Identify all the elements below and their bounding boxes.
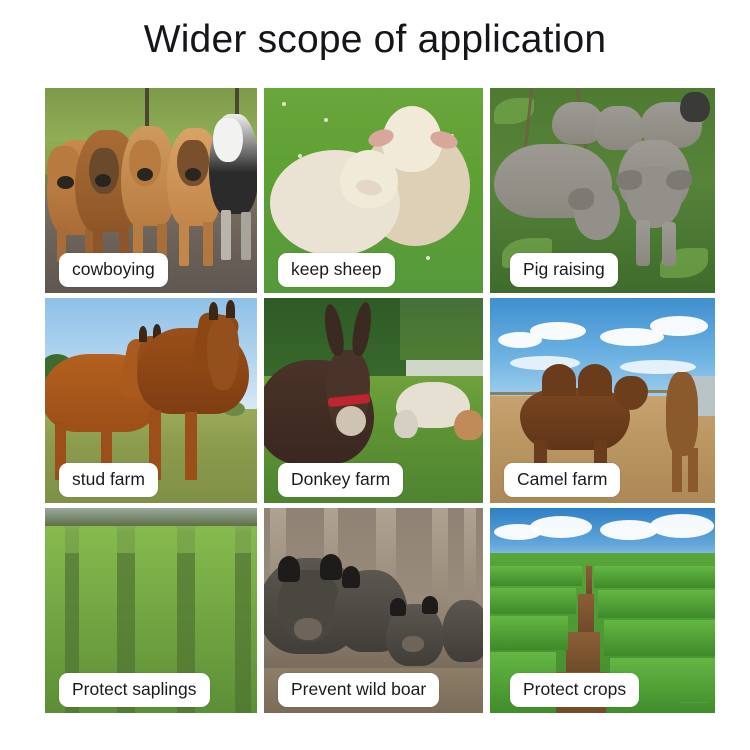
grid-cell-cowboying[interactable]: cowboying xyxy=(45,88,257,293)
pig-ear xyxy=(568,188,594,210)
pig xyxy=(680,92,710,122)
crop-row xyxy=(604,620,715,656)
wild-boar-piglet xyxy=(442,600,483,662)
cow-leg xyxy=(179,220,189,266)
boar-ear xyxy=(320,554,342,580)
soil-furrow xyxy=(566,632,600,676)
grid-cell-donkey-farm[interactable]: Donkey farm xyxy=(264,298,483,503)
boar-ear xyxy=(390,598,406,616)
boar-ear xyxy=(422,596,438,614)
crop-row xyxy=(490,566,582,586)
pig-ear xyxy=(616,170,642,190)
horse-ear xyxy=(226,300,235,318)
cow-head xyxy=(89,148,119,194)
soil-furrow xyxy=(578,594,594,634)
page-root: Wider scope of application xyxy=(0,0,750,750)
boar-ear xyxy=(278,556,300,582)
crop-row xyxy=(594,566,715,588)
cow-leg xyxy=(241,212,251,260)
cow-muzzle xyxy=(95,174,111,187)
grid-cell-prevent-wild-boar[interactable]: Prevent wild boar xyxy=(264,508,483,713)
grid-cell-stud-farm[interactable]: stud farm xyxy=(45,298,257,503)
horse-ear xyxy=(139,326,147,342)
crop-row xyxy=(598,590,715,618)
horse-head xyxy=(207,316,239,390)
crop-row xyxy=(490,616,568,650)
grid-cell-protect-crops[interactable]: ············ Protect crops xyxy=(490,508,715,713)
grid-cell-protect-saplings[interactable]: Protect saplings xyxy=(45,508,257,713)
flower xyxy=(426,256,430,260)
boar-ear xyxy=(342,566,360,588)
cell-label: Protect crops xyxy=(510,673,639,707)
camel xyxy=(666,372,698,456)
pig-ear xyxy=(666,170,692,190)
calf xyxy=(454,410,483,440)
cow-muzzle xyxy=(57,176,74,189)
camel-leg xyxy=(688,448,698,492)
pig-leg xyxy=(662,222,676,266)
cell-label: Camel farm xyxy=(504,463,620,497)
cell-label: Donkey farm xyxy=(278,463,403,497)
white-cow-head xyxy=(394,410,418,438)
cow-muzzle xyxy=(185,168,201,181)
cloud xyxy=(530,516,592,538)
soil-row xyxy=(235,553,251,713)
distant-treeline xyxy=(45,508,257,526)
horse-ear xyxy=(209,302,218,320)
cell-label: Prevent wild boar xyxy=(278,673,439,707)
camel-hump xyxy=(542,364,576,396)
cow-muzzle xyxy=(137,168,153,181)
camel-leg xyxy=(672,448,682,492)
sapling-row xyxy=(251,526,257,713)
cell-label: cowboying xyxy=(59,253,168,287)
cell-label: keep sheep xyxy=(278,253,395,287)
pig-leg xyxy=(636,220,650,266)
watermark: ············ xyxy=(681,700,709,706)
grid-cell-pig-raising[interactable]: Pig raising xyxy=(490,88,715,293)
cloud xyxy=(650,316,708,336)
cow-leg xyxy=(221,210,231,260)
boar-snout xyxy=(402,636,424,652)
cell-label: stud farm xyxy=(59,463,158,497)
flower xyxy=(324,118,328,122)
cloud xyxy=(650,514,714,538)
flower xyxy=(282,102,286,106)
cloud xyxy=(530,322,586,340)
page-title: Wider scope of application xyxy=(0,18,750,62)
cow-leg xyxy=(203,222,213,266)
cloud xyxy=(600,520,658,540)
treeline xyxy=(400,298,483,360)
horse-leg xyxy=(185,412,197,480)
cow-head xyxy=(213,118,243,162)
application-scope-grid: cowboying keep sheep xyxy=(45,88,708,713)
grid-cell-camel-farm[interactable]: Camel farm xyxy=(490,298,715,503)
camel-hump xyxy=(578,364,612,396)
cell-label: Protect saplings xyxy=(59,673,210,707)
soil-furrow xyxy=(586,566,592,596)
donkey-muzzle xyxy=(336,406,366,436)
boar-snout xyxy=(294,618,322,640)
crop-row xyxy=(490,588,576,614)
cell-label: Pig raising xyxy=(510,253,618,287)
grid-cell-keep-sheep[interactable]: keep sheep xyxy=(264,88,483,293)
